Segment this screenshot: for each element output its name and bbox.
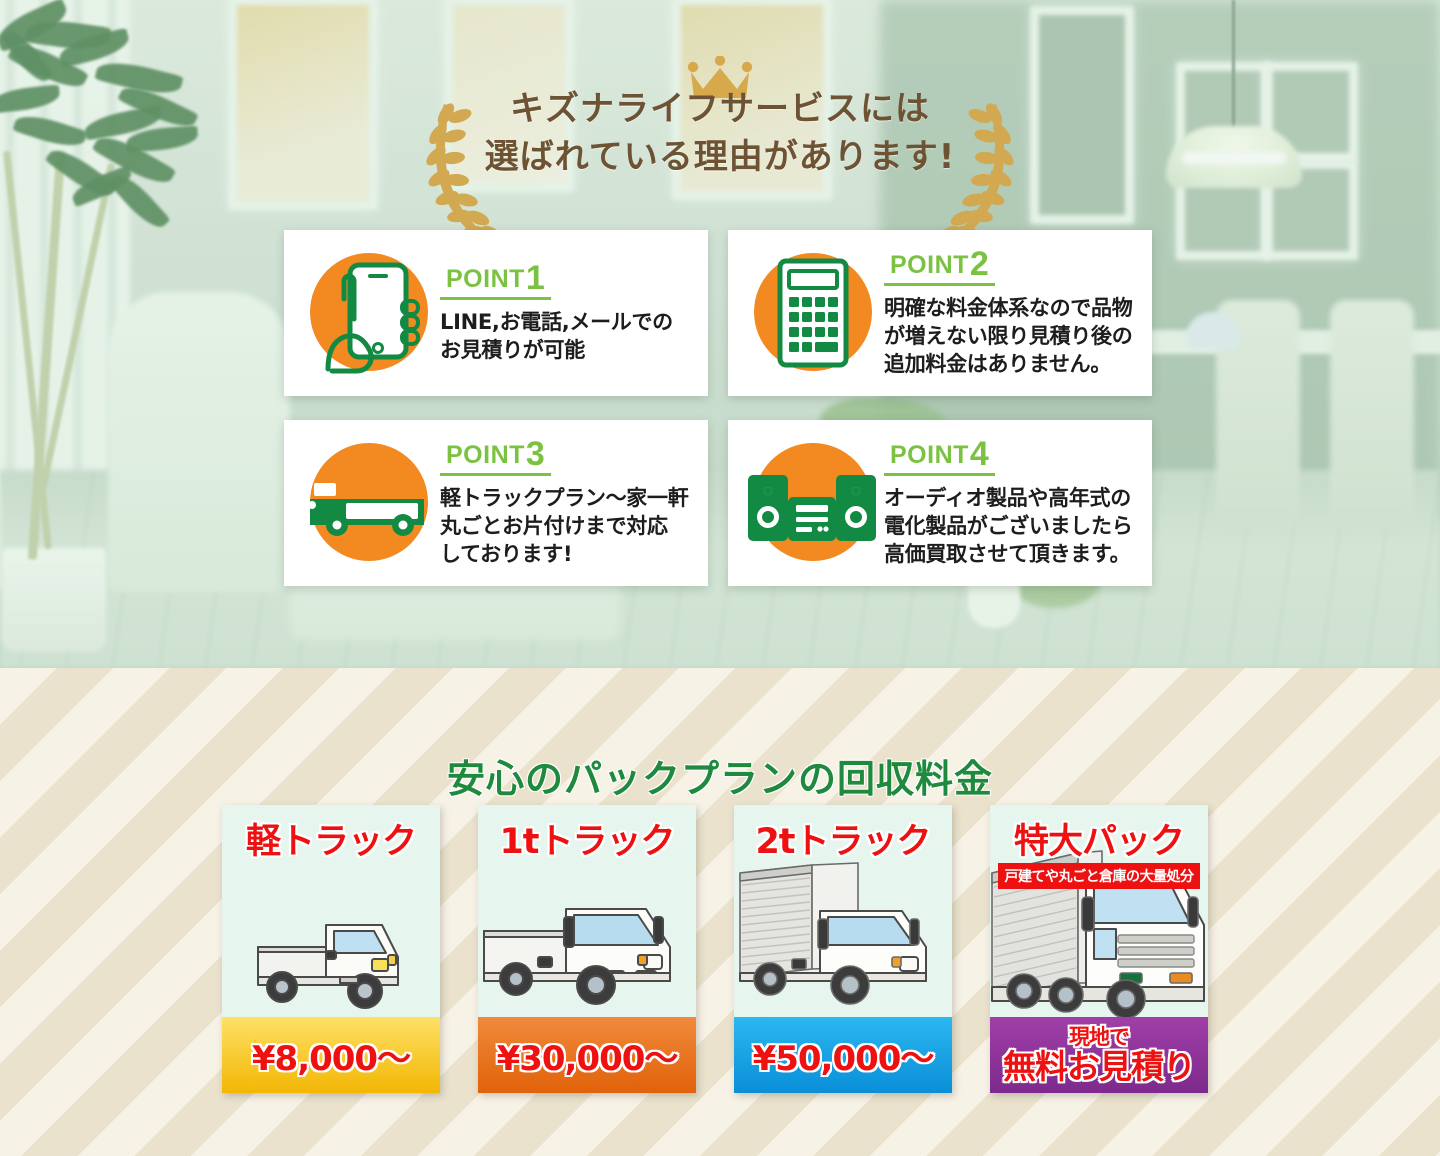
hero-headline: キズナライフサービスには 選ばれている理由があります! xyxy=(485,85,956,182)
plan-card-large-pack[interactable]: 特大パック 戸建てや丸ごと倉庫の大量処分 xyxy=(990,805,1208,1093)
point-card-body: POINT3 軽トラックプラン〜家一軒 丸ごとお片付けまで対応 しております! xyxy=(438,437,694,569)
light-truck-icon xyxy=(298,433,438,573)
point-card-body: POINT4 オーディオ製品や高年式の 電化製品がございましたら 高価買取させて… xyxy=(882,437,1138,569)
point-card-4[interactable]: POINT4 オーディオ製品や高年式の 電化製品がございましたら 高価買取させて… xyxy=(728,420,1152,586)
plan-card-price: ¥8,000〜 xyxy=(222,1017,440,1093)
plan-card-2t-truck[interactable]: 2tトラック xyxy=(734,805,952,1093)
point-card-3[interactable]: POINT3 軽トラックプラン〜家一軒 丸ごとお片付けまで対応 しております! xyxy=(284,420,708,586)
plan-card-subtitle: 戸建てや丸ごと倉庫の大量処分 xyxy=(998,863,1200,889)
plan-card-title: 軽トラック xyxy=(222,813,440,864)
point-number: 2 xyxy=(970,245,989,283)
point-label-1: POINT1 xyxy=(440,261,551,300)
point-number: 3 xyxy=(526,435,545,473)
plan-card-price-line1: 現地で xyxy=(1069,1027,1129,1048)
plan-card-price: ¥30,000〜 xyxy=(478,1017,696,1093)
point-text-4: オーディオ製品や高年式の 電化製品がございましたら 高価買取させて頂きます。 xyxy=(884,485,1138,569)
point-label-text: POINT xyxy=(890,251,969,279)
hero-section: キズナライフサービスには 選ばれている理由があります! xyxy=(0,0,1440,668)
plans-section: 安心のパックプランの回収料金 軽トラック xyxy=(0,668,1440,1156)
point-label-text: POINT xyxy=(446,265,525,293)
point-label-2: POINT2 xyxy=(884,247,995,286)
point-card-body: POINT2 明確な料金体系なので品物 が増えない限り見積り後の 追加料金はあり… xyxy=(882,247,1138,379)
point-card-2[interactable]: POINT2 明確な料金体系なので品物 が増えない限り見積り後の 追加料金はあり… xyxy=(728,230,1152,396)
headline-line-2: 選ばれている理由があります! xyxy=(485,133,956,181)
plan-card-title: 1tトラック xyxy=(478,813,696,864)
plan-card-price: 現地で 無料お見積り xyxy=(990,1017,1208,1093)
plan-card-1t-truck[interactable]: 1tトラック xyxy=(478,805,696,1093)
point-label-4: POINT4 xyxy=(884,437,995,476)
kei-flatbed-truck-icon xyxy=(222,851,440,1041)
plan-card-price-line2: 無料お見積り xyxy=(1003,1050,1195,1083)
plan-card-price: ¥50,000〜 xyxy=(734,1017,952,1093)
hero-headline-block: キズナライフサービスには 選ばれている理由があります! xyxy=(0,48,1440,218)
point-text-2: 明確な料金体系なので品物 が増えない限り見積り後の 追加料金はありません。 xyxy=(884,295,1138,379)
point-cards-grid: POINT1 LINE,お電話,メールでの お見積りが可能 xyxy=(284,230,1152,586)
plan-cards-row: 軽トラック ¥8 xyxy=(222,805,1232,1095)
point-text-1: LINE,お電話,メールでの お見積りが可能 xyxy=(440,309,694,365)
point-label-text: POINT xyxy=(890,441,969,469)
audio-stereo-icon xyxy=(742,433,882,573)
headline-line-1: キズナライフサービスには xyxy=(485,85,956,133)
2t-box-truck-icon xyxy=(734,851,952,1041)
point-number: 4 xyxy=(970,435,989,473)
plan-card-title: 2tトラック xyxy=(734,813,952,864)
plan-card-title: 特大パック xyxy=(990,813,1208,864)
plans-title: 安心のパックプランの回収料金 xyxy=(0,748,1440,803)
point-card-1[interactable]: POINT1 LINE,お電話,メールでの お見積りが可能 xyxy=(284,230,708,396)
point-text-3: 軽トラックプラン〜家一軒 丸ごとお片付けまで対応 しております! xyxy=(440,485,694,569)
point-label-text: POINT xyxy=(446,441,525,469)
point-label-3: POINT3 xyxy=(440,437,551,476)
smartphone-in-hand-icon xyxy=(298,243,438,383)
point-card-body: POINT1 LINE,お電話,メールでの お見積りが可能 xyxy=(438,261,694,365)
plan-card-kei-truck[interactable]: 軽トラック ¥8 xyxy=(222,805,440,1093)
1t-flatbed-truck-icon xyxy=(478,851,696,1041)
calculator-icon xyxy=(742,243,882,383)
point-number: 1 xyxy=(526,259,545,297)
